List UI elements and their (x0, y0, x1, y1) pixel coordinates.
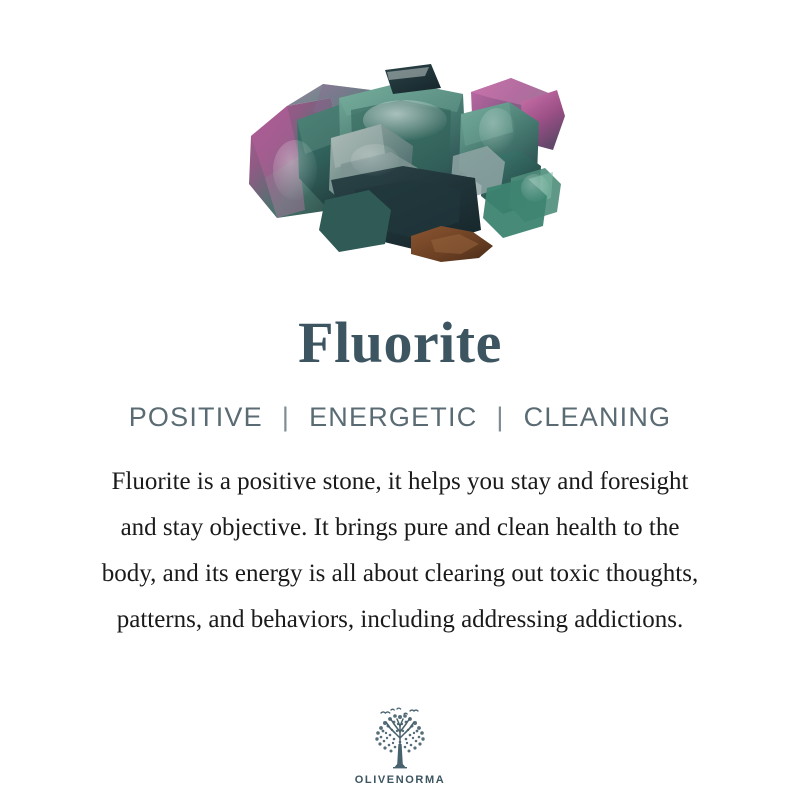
description-line-4: patterns, and behaviors, including addre… (20, 597, 780, 643)
keyword-separator-2: | (477, 402, 523, 433)
keyword-list: POSITIVE | ENERGETIC | CLEANING (129, 402, 672, 433)
brand-wordmark: OLIVENORMA (355, 774, 446, 786)
keyword-energetic: ENERGETIC (309, 402, 477, 433)
brand-logo: OLIVENORMA (0, 706, 800, 786)
product-info-card: Fluorite POSITIVE | ENERGETIC | CLEANING… (0, 0, 800, 800)
description-text: Fluorite is a positive stone, it helps y… (20, 459, 780, 643)
description-line-1: Fluorite is a positive stone, it helps y… (20, 459, 780, 505)
description-line-2: and stay objective. It brings pure and c… (20, 505, 780, 551)
keyword-cleaning: CLEANING (524, 402, 672, 433)
description-line-3: body, and its energy is all about cleari… (20, 551, 780, 597)
tree-of-life-icon (364, 706, 436, 772)
keyword-positive: POSITIVE (129, 402, 263, 433)
crystal-cluster (249, 64, 565, 262)
page-title: Fluorite (298, 314, 502, 372)
keyword-separator-1: | (263, 402, 309, 433)
fluorite-crystal-image (235, 60, 565, 265)
hero-image-container (0, 0, 800, 320)
